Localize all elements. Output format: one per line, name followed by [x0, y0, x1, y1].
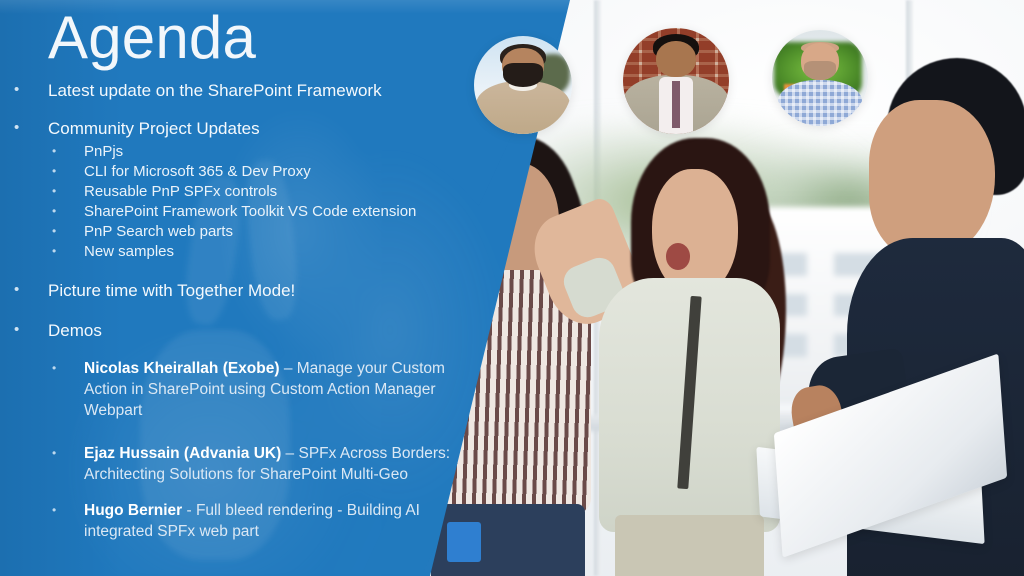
community-subitem-label: PnPjs — [84, 143, 123, 161]
slide-text-content: Agenda • Latest update on the SharePoint… — [0, 0, 560, 576]
agenda-item-1: • Community Project Updates — [14, 119, 260, 139]
community-subitem-label: SharePoint Framework Toolkit VS Code ext… — [84, 203, 416, 221]
demo-item-text: Nicolas Kheirallah (Exobe) – Manage your… — [84, 358, 472, 421]
agenda-item-label: Demos — [48, 321, 102, 341]
presentation-slide: Agenda • Latest update on the SharePoint… — [0, 0, 1024, 576]
avatar-speaker-2 — [623, 28, 729, 134]
bullet-icon: • — [52, 443, 84, 461]
community-subitem-label: CLI for Microsoft 365 & Dev Proxy — [84, 163, 311, 181]
demo-speaker-name: Hugo Bernier — [84, 502, 182, 519]
bullet-icon: • — [14, 81, 48, 98]
community-subitem-2: • Reusable PnP SPFx controls — [52, 183, 277, 201]
demo-speaker-name: Nicolas Kheirallah (Exobe) — [84, 360, 280, 377]
demo-item-text: Hugo Bernier - Full bleed rendering - Bu… — [84, 500, 472, 542]
community-subitem-1: • CLI for Microsoft 365 & Dev Proxy — [52, 163, 311, 181]
bullet-icon: • — [52, 183, 84, 199]
agenda-item-2: • Picture time with Together Mode! — [14, 281, 295, 301]
agenda-item-0: • Latest update on the SharePoint Framew… — [14, 81, 382, 101]
bullet-icon: • — [52, 143, 84, 159]
agenda-item-3: • Demos — [14, 321, 102, 341]
page-title: Agenda — [48, 8, 256, 68]
bullet-icon: • — [14, 119, 48, 136]
community-subitem-0: • PnPjs — [52, 143, 123, 161]
demo-separator: – — [281, 445, 298, 462]
community-subitem-3: • SharePoint Framework Toolkit VS Code e… — [52, 203, 416, 221]
bullet-icon: • — [52, 163, 84, 179]
demo-item-0: • Nicolas Kheirallah (Exobe) – Manage yo… — [52, 358, 472, 421]
demo-separator: - — [182, 502, 196, 519]
bullet-icon: • — [14, 281, 48, 298]
demo-item-2: • Hugo Bernier - Full bleed rendering - … — [52, 500, 472, 542]
demo-item-text: Ejaz Hussain (Advania UK) – SPFx Across … — [84, 443, 472, 485]
demo-item-1: • Ejaz Hussain (Advania UK) – SPFx Acros… — [52, 443, 472, 485]
bullet-icon: • — [52, 500, 84, 518]
agenda-item-label: Picture time with Together Mode! — [48, 281, 295, 301]
bullet-icon: • — [52, 243, 84, 259]
agenda-item-label: Community Project Updates — [48, 119, 260, 139]
community-subitem-4: • PnP Search web parts — [52, 223, 233, 241]
avatar-speaker-3 — [772, 30, 868, 126]
community-subitem-label: PnP Search web parts — [84, 223, 233, 241]
bullet-icon: • — [52, 203, 84, 219]
bullet-icon: • — [14, 321, 48, 338]
demo-speaker-name: Ejaz Hussain (Advania UK) — [84, 445, 281, 462]
community-subitem-5: • New samples — [52, 243, 174, 261]
agenda-item-label: Latest update on the SharePoint Framewor… — [48, 81, 382, 101]
demo-separator: – — [280, 360, 297, 377]
community-subitem-label: Reusable PnP SPFx controls — [84, 183, 277, 201]
bullet-icon: • — [52, 358, 84, 376]
community-subitem-label: New samples — [84, 243, 174, 261]
bullet-icon: • — [52, 223, 84, 239]
